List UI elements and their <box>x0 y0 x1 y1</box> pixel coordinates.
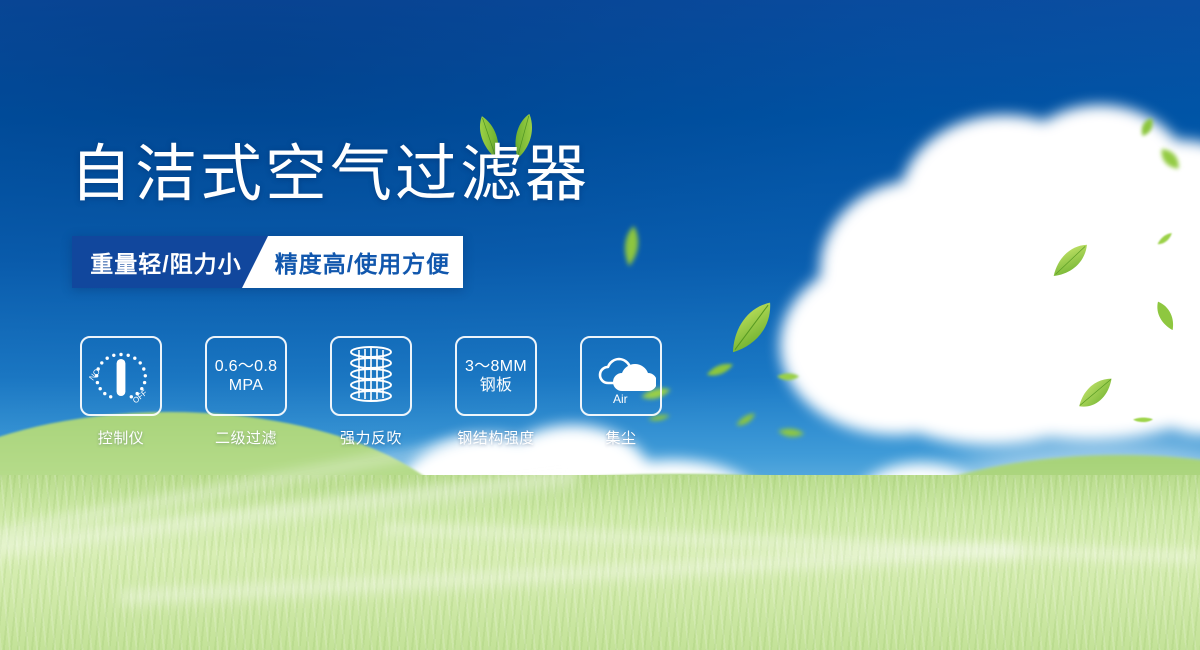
pressure-text-icon: 0.6～0.8 MPA <box>205 336 287 416</box>
subtitle-left: 重量轻/阻力小 <box>72 236 268 288</box>
feature-item-dust[interactable]: Air 集尘 <box>580 336 662 448</box>
dial-off-label: OFF <box>131 388 149 405</box>
feature-item-pressure[interactable]: 0.6～0.8 MPA 二级过滤 <box>205 336 287 448</box>
product-banner: 自洁式空气过滤器 重量轻/阻力小 精度高/使用方便 <box>0 0 1200 650</box>
feature-item-backblow[interactable]: 强力反吹 <box>330 336 412 448</box>
feature-label-control: 控制仪 <box>80 427 162 448</box>
subtitle-bar: 重量轻/阻力小 精度高/使用方便 <box>72 236 463 288</box>
feature-list: NO OFF 控制仪 0.6～0.8 MPA 二级过滤 <box>80 336 662 448</box>
air-cloud-icon: Air <box>580 336 662 416</box>
pressure-value: 0.6～0.8 MPA <box>213 357 280 395</box>
feature-label-pressure: 二级过滤 <box>205 427 287 448</box>
filter-cartridge-icon <box>330 336 412 416</box>
steel-plate-text-icon: 3～8MM 钢板 <box>455 336 537 416</box>
feature-label-dust: 集尘 <box>580 427 662 448</box>
subtitle-right: 精度高/使用方便 <box>242 236 463 288</box>
feature-label-steel: 钢结构强度 <box>442 427 550 448</box>
feature-label-backblow: 强力反吹 <box>330 427 412 448</box>
feature-item-control[interactable]: NO OFF 控制仪 <box>80 336 162 448</box>
feature-item-steel[interactable]: 3～8MM 钢板 钢结构强度 <box>455 336 537 448</box>
steel-plate-value: 3～8MM 钢板 <box>463 357 529 395</box>
page-title: 自洁式空气过滤器 <box>70 144 590 206</box>
air-label: Air <box>613 392 628 406</box>
control-dial-icon: NO OFF <box>80 336 162 416</box>
banner-content: 自洁式空气过滤器 重量轻/阻力小 精度高/使用方便 <box>0 0 1200 650</box>
